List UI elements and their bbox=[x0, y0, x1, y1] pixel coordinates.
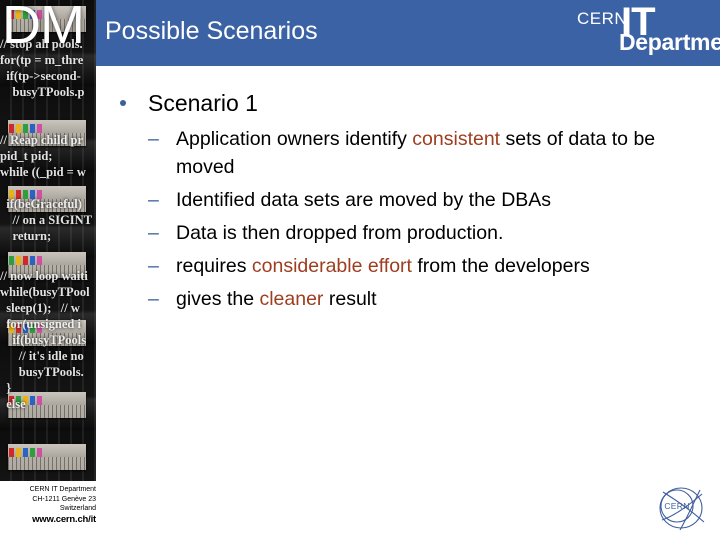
slide-header-bar: Possible Scenarios CERN IT Department bbox=[96, 0, 720, 66]
bullet-text: gives the bbox=[176, 288, 259, 310]
bullet-dash-icon: – bbox=[148, 186, 159, 214]
sidebar-code-overlay-lower: // now loop waiti while(busyTPool sleep(… bbox=[0, 268, 96, 412]
highlighted-text: cleaner bbox=[259, 288, 323, 310]
logo-cern-word: CERN bbox=[577, 10, 627, 27]
highlighted-text: consistent bbox=[412, 128, 500, 150]
cern-ring-logo: CERN bbox=[650, 482, 712, 534]
bullet-level2: –Identified data sets are moved by the D… bbox=[148, 186, 708, 214]
page-title: Possible Scenarios bbox=[105, 16, 318, 46]
cern-it-department-logo: CERN IT Department bbox=[569, 4, 714, 60]
bullet-dash-icon: – bbox=[148, 125, 159, 153]
logo-department-word: Department bbox=[619, 31, 720, 54]
bullet-dash-icon: – bbox=[148, 252, 159, 280]
bullet-dash-icon: – bbox=[148, 285, 159, 313]
sub-bullet-list: –Application owners identify consistent … bbox=[148, 125, 708, 313]
bullet-text: Identified data sets are moved by the DB… bbox=[176, 189, 551, 211]
tape-stripes bbox=[8, 457, 86, 470]
cern-logo-svg: CERN bbox=[650, 482, 712, 534]
bullet-dot-icon bbox=[120, 100, 126, 106]
footer-url[interactable]: www.cern.ch/it bbox=[0, 514, 96, 526]
footer-line-2: CH-1211 Genève 23 bbox=[0, 495, 96, 505]
sidebar-decorative-image: // stop all pools. for(tp = m_thre if(tp… bbox=[0, 0, 96, 481]
bullet-level1: Scenario 1 bbox=[120, 89, 720, 117]
bullet-level2: –Application owners identify consistent … bbox=[148, 125, 708, 181]
slide: // stop all pools. for(tp = m_thre if(tp… bbox=[0, 0, 720, 540]
bullet-level1-label: Scenario 1 bbox=[148, 90, 258, 116]
bullet-text: Data is then dropped from production. bbox=[176, 222, 503, 244]
footer-line-3: Switzerland bbox=[0, 504, 96, 514]
footer-address: CERN IT Department CH-1211 Genève 23 Swi… bbox=[0, 485, 96, 526]
bullet-text: requires bbox=[176, 255, 252, 277]
bullet-text: Application owners identify bbox=[176, 128, 412, 150]
slide-body: Scenario 1 –Application owners identify … bbox=[96, 66, 720, 480]
dm-monogram: DM bbox=[2, 0, 84, 52]
cern-logo-text: CERN bbox=[664, 501, 689, 511]
bullet-level2: –Data is then dropped from production. bbox=[148, 219, 708, 247]
sidebar-code-overlay-upper: // stop all pools. for(tp = m_thre if(tp… bbox=[0, 36, 96, 244]
bullet-level2: –requires considerable effort from the d… bbox=[148, 252, 708, 280]
bullet-dash-icon: – bbox=[148, 219, 159, 247]
bullet-level2: –gives the cleaner result bbox=[148, 285, 708, 313]
bullet-text: from the developers bbox=[412, 255, 590, 277]
tape-shelf bbox=[8, 444, 86, 470]
highlighted-text: considerable effort bbox=[252, 255, 412, 277]
footer-line-1: CERN IT Department bbox=[0, 485, 96, 495]
bullet-text: result bbox=[323, 288, 376, 310]
